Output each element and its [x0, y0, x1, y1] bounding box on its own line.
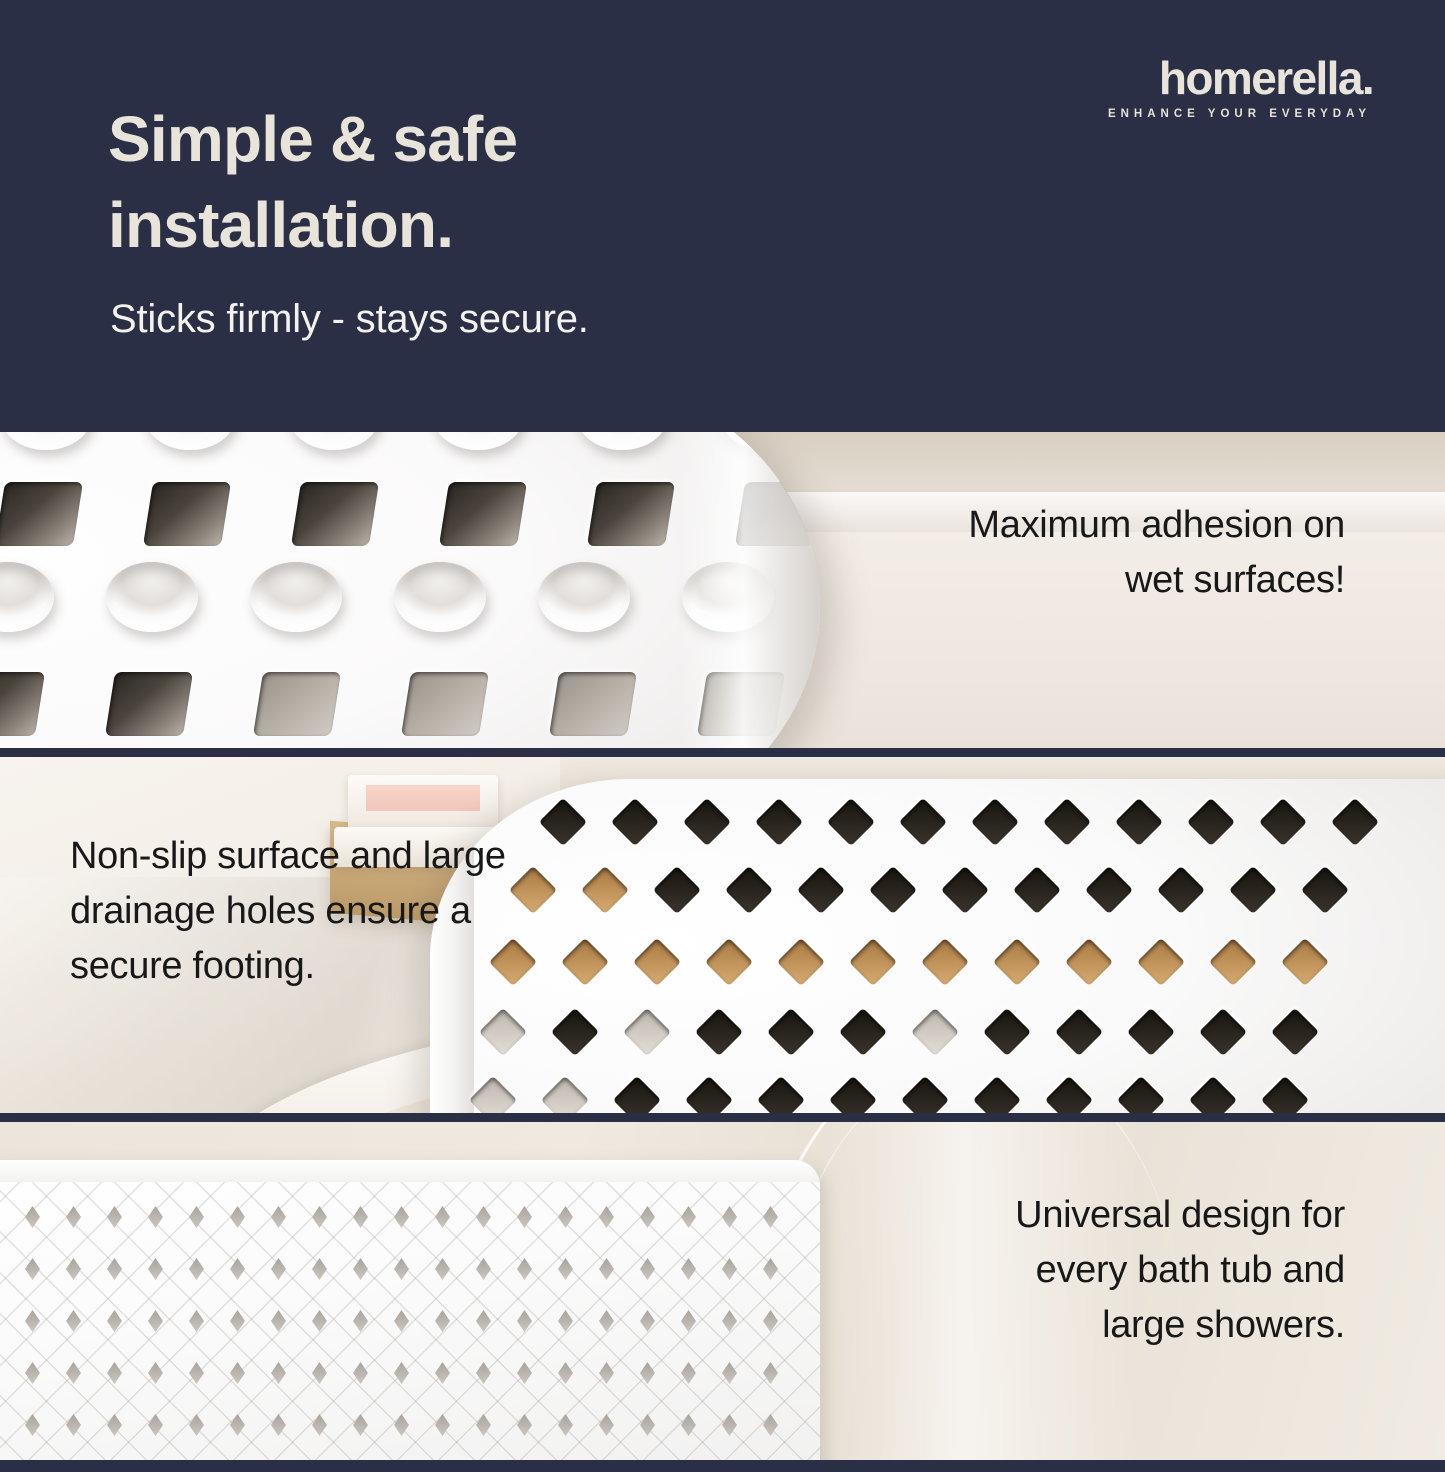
diamond-drainage-hole: [189, 1414, 204, 1436]
diamond-drainage-hole: [1259, 798, 1307, 846]
panel-divider-1: [0, 748, 1445, 757]
diamond-drainage-hole: [394, 1258, 409, 1280]
diamond-drainage-hole: [901, 1076, 949, 1113]
panel-1-caption-line-1: Maximum adhesion on: [785, 498, 1345, 553]
diamond-drainage-hole: [230, 1310, 245, 1332]
diamond-drainage-hole: [66, 1258, 81, 1280]
diamond-drainage-hole: [1045, 1076, 1093, 1113]
square-drainage-hole: [587, 482, 675, 546]
diamond-drainage-hole: [394, 1206, 409, 1228]
diamond-drainage-hole: [312, 1362, 327, 1384]
diamond-drainage-hole: [1229, 866, 1277, 914]
page-subheadline: Sticks firmly - stays secure.: [110, 295, 589, 343]
diamond-drainage-hole: [230, 1258, 245, 1280]
diamond-drainage-hole: [558, 1414, 573, 1436]
diamond-drainage-hole: [640, 1206, 655, 1228]
diamond-drainage-hole: [1043, 798, 1091, 846]
diamond-drainage-hole: [640, 1414, 655, 1436]
panel-3-caption-line-3: large showers.: [785, 1298, 1345, 1353]
diamond-drainage-hole: [394, 1310, 409, 1332]
diamond-drainage-hole: [973, 1076, 1021, 1113]
suction-cup-icon: [538, 562, 630, 632]
suction-cup-icon: [682, 562, 774, 632]
diamond-drainage-hole: [1085, 866, 1133, 914]
diamond-drainage-hole: [640, 1310, 655, 1332]
diamond-drainage-hole: [25, 1258, 40, 1280]
headline-line-2: installation.: [108, 183, 868, 269]
diamond-drainage-hole: [685, 1076, 733, 1113]
diamond-drainage-hole: [189, 1362, 204, 1384]
diamond-drainage-hole: [476, 1206, 491, 1228]
diamond-drainage-hole: [722, 1258, 737, 1280]
diamond-drainage-hole: [353, 1310, 368, 1332]
diamond-drainage-hole: [312, 1206, 327, 1228]
suction-cup-icon: [432, 432, 524, 450]
diamond-drainage-hole: [312, 1310, 327, 1332]
panel-1-caption: Maximum adhesion on wet surfaces!: [785, 498, 1345, 608]
panel-2-caption: Non-slip surface and large drainage hole…: [70, 829, 670, 994]
diamond-drainage-hole: [1301, 866, 1349, 914]
diamond-drainage-hole: [763, 1310, 778, 1332]
diamond-drainage-hole: [1137, 938, 1185, 986]
diamond-drainage-hole: [558, 1206, 573, 1228]
diamond-drainage-hole: [558, 1310, 573, 1332]
diamond-drainage-hole: [640, 1362, 655, 1384]
diamond-drainage-hole: [993, 938, 1041, 986]
brand-logo: homerella. ENHANCE YOUR EVERYDAY: [1108, 55, 1373, 121]
panel-2-caption-line-3: secure footing.: [70, 939, 670, 994]
diamond-drainage-hole: [869, 866, 917, 914]
diamond-drainage-hole: [394, 1362, 409, 1384]
diamond-drainage-hole: [1117, 1076, 1165, 1113]
diamond-drainage-hole: [829, 1076, 877, 1113]
diamond-drainage-hole: [725, 866, 773, 914]
suction-cup-icon: [720, 432, 812, 450]
diamond-drainage-hole: [107, 1206, 122, 1228]
diamond-drainage-hole: [353, 1414, 368, 1436]
diamond-drainage-hole: [1127, 1008, 1175, 1056]
diamond-drainage-hole: [517, 1258, 532, 1280]
diamond-drainage-hole: [189, 1310, 204, 1332]
diamond-drainage-hole: [476, 1414, 491, 1436]
diamond-hole-row: [0, 1258, 804, 1280]
infographic-sheet: Simple & safe installation. Sticks firml…: [0, 0, 1445, 1472]
header-banner: Simple & safe installation. Sticks firml…: [0, 0, 1445, 432]
panel-divider-2: [0, 1113, 1445, 1122]
diamond-drainage-hole: [1013, 866, 1061, 914]
diamond-drainage-hole: [1271, 1008, 1319, 1056]
diamond-drainage-hole: [107, 1362, 122, 1384]
diamond-drainage-hole: [1209, 938, 1257, 986]
diamond-drainage-hole: [613, 1076, 661, 1113]
diamond-drainage-hole: [1115, 798, 1163, 846]
diamond-hole-row: [0, 1206, 804, 1228]
diamond-drainage-hole: [271, 1206, 286, 1228]
diamond-drainage-hole: [722, 1206, 737, 1228]
square-drainage-hole: [105, 672, 193, 736]
diamond-drainage-hole: [1055, 1008, 1103, 1056]
diamond-drainage-hole: [1199, 1008, 1247, 1056]
diamond-drainage-hole: [1187, 798, 1235, 846]
diamond-drainage-hole: [25, 1362, 40, 1384]
diamond-drainage-hole: [66, 1206, 81, 1228]
suction-cup-row: [0, 562, 820, 632]
brand-logo-tagline: ENHANCE YOUR EVERYDAY: [1108, 109, 1373, 121]
diamond-drainage-hole: [551, 1008, 599, 1056]
suction-cup-icon: [394, 562, 486, 632]
square-drainage-hole: [439, 482, 527, 546]
diamond-drainage-hole: [353, 1258, 368, 1280]
diamond-drainage-hole: [941, 866, 989, 914]
diamond-drainage-hole: [148, 1258, 163, 1280]
bath-mat-flat-photo: [0, 1160, 820, 1460]
diamond-drainage-hole: [271, 1310, 286, 1332]
diamond-drainage-hole: [1157, 866, 1205, 914]
diamond-drainage-hole: [777, 938, 825, 986]
diamond-drainage-hole: [312, 1414, 327, 1436]
diamond-hole-row: [546, 805, 1410, 839]
diamond-drainage-hole: [435, 1310, 450, 1332]
diamond-drainage-hole: [107, 1310, 122, 1332]
diamond-drainage-hole: [705, 938, 753, 986]
suction-cup-icon: [0, 562, 54, 632]
diamond-drainage-hole: [66, 1414, 81, 1436]
diamond-drainage-hole: [983, 1008, 1031, 1056]
diamond-drainage-hole: [312, 1258, 327, 1280]
bottom-navy-strip: [0, 1460, 1445, 1472]
diamond-drainage-hole: [695, 1008, 743, 1056]
diamond-drainage-hole: [517, 1414, 532, 1436]
diamond-drainage-hole: [435, 1362, 450, 1384]
diamond-drainage-hole: [271, 1414, 286, 1436]
diamond-drainage-hole: [722, 1414, 737, 1436]
diamond-drainage-hole: [476, 1258, 491, 1280]
diamond-drainage-hole: [971, 798, 1019, 846]
drainage-hole-row: [0, 482, 820, 546]
diamond-drainage-hole: [763, 1206, 778, 1228]
diamond-hole-row: [0, 1310, 804, 1332]
suction-cup-icon: [106, 562, 198, 632]
diamond-drainage-hole: [839, 1008, 887, 1056]
mat-drainage-hole-grid: [0, 1182, 820, 1460]
bath-mat-underside-photo: [0, 432, 820, 748]
diamond-drainage-hole: [763, 1362, 778, 1384]
square-drainage-hole: [401, 672, 489, 736]
diamond-drainage-hole: [25, 1414, 40, 1436]
diamond-hole-row: [476, 1083, 1340, 1113]
page-headline: Simple & safe installation.: [108, 97, 868, 269]
headline-line-1: Simple & safe: [108, 103, 517, 175]
diamond-drainage-hole: [722, 1362, 737, 1384]
suction-cup-icon: [0, 432, 92, 450]
diamond-drainage-hole: [763, 1258, 778, 1280]
square-drainage-hole: [143, 482, 231, 546]
panel-3-caption: Universal design for every bath tub and …: [785, 1188, 1345, 1353]
diamond-drainage-hole: [757, 1076, 805, 1113]
diamond-drainage-hole: [230, 1362, 245, 1384]
diamond-drainage-hole: [1281, 938, 1329, 986]
diamond-drainage-hole: [599, 1414, 614, 1436]
diamond-drainage-hole: [25, 1206, 40, 1228]
diamond-drainage-hole: [827, 798, 875, 846]
diamond-drainage-hole: [517, 1310, 532, 1332]
diamond-drainage-hole: [849, 938, 897, 986]
panel-2-caption-line-1: Non-slip surface and large: [70, 829, 670, 884]
diamond-drainage-hole: [599, 1310, 614, 1332]
panel-1-caption-line-2: wet surfaces!: [785, 553, 1345, 608]
square-drainage-hole: [0, 672, 45, 736]
diamond-drainage-hole: [763, 1414, 778, 1436]
diamond-drainage-hole: [921, 938, 969, 986]
diamond-drainage-hole: [911, 1008, 959, 1056]
diamond-drainage-hole: [599, 1206, 614, 1228]
diamond-drainage-hole: [469, 1076, 517, 1113]
diamond-drainage-hole: [25, 1310, 40, 1332]
diamond-drainage-hole: [681, 1206, 696, 1228]
diamond-drainage-hole: [681, 1362, 696, 1384]
diamond-drainage-hole: [517, 1206, 532, 1228]
diamond-drainage-hole: [683, 798, 731, 846]
square-drainage-hole: [253, 672, 341, 736]
diamond-drainage-hole: [230, 1414, 245, 1436]
diamond-drainage-hole: [435, 1258, 450, 1280]
diamond-drainage-hole: [1189, 1076, 1237, 1113]
brand-logo-wordmark: homerella.: [1108, 55, 1373, 101]
diamond-drainage-hole: [899, 798, 947, 846]
diamond-drainage-hole: [353, 1206, 368, 1228]
diamond-drainage-hole: [230, 1206, 245, 1228]
soap-bar-top: [348, 775, 498, 831]
square-drainage-hole: [549, 672, 637, 736]
diamond-drainage-hole: [148, 1310, 163, 1332]
diamond-drainage-hole: [435, 1206, 450, 1228]
diamond-drainage-hole: [148, 1362, 163, 1384]
diamond-drainage-hole: [767, 1008, 815, 1056]
panel-3-caption-line-1: Universal design for: [785, 1188, 1345, 1243]
diamond-drainage-hole: [623, 1008, 671, 1056]
diamond-drainage-hole: [541, 1076, 589, 1113]
feature-panel-adhesion: Maximum adhesion on wet surfaces!: [0, 432, 1445, 748]
diamond-drainage-hole: [681, 1310, 696, 1332]
diamond-drainage-hole: [476, 1310, 491, 1332]
drainage-hole-row: [0, 672, 820, 736]
square-drainage-hole: [0, 482, 83, 546]
mat-border-rim: [0, 1160, 820, 1182]
suction-cup-icon: [288, 432, 380, 450]
feature-panel-nonslip: Non-slip surface and large drainage hole…: [0, 757, 1445, 1113]
diamond-drainage-hole: [271, 1258, 286, 1280]
diamond-drainage-hole: [66, 1310, 81, 1332]
diamond-drainage-hole: [479, 1008, 527, 1056]
suction-cup-icon: [250, 562, 342, 632]
square-drainage-hole: [697, 672, 785, 736]
panel-3-caption-line-2: every bath tub and: [785, 1243, 1345, 1298]
diamond-drainage-hole: [797, 866, 845, 914]
diamond-drainage-hole: [640, 1258, 655, 1280]
diamond-drainage-hole: [148, 1206, 163, 1228]
diamond-drainage-hole: [394, 1414, 409, 1436]
diamond-hole-row: [0, 1362, 804, 1384]
diamond-drainage-hole: [1331, 798, 1379, 846]
suction-cup-row: [0, 432, 820, 450]
square-drainage-hole: [291, 482, 379, 546]
diamond-drainage-hole: [353, 1362, 368, 1384]
diamond-drainage-hole: [476, 1362, 491, 1384]
diamond-hole-row: [0, 1414, 804, 1436]
diamond-drainage-hole: [271, 1362, 286, 1384]
diamond-drainage-hole: [148, 1414, 163, 1436]
diamond-drainage-hole: [1065, 938, 1113, 986]
diamond-drainage-hole: [599, 1258, 614, 1280]
diamond-drainage-hole: [722, 1310, 737, 1332]
diamond-drainage-hole: [681, 1258, 696, 1280]
diamond-drainage-hole: [189, 1206, 204, 1228]
panel-2-caption-line-2: drainage holes ensure a: [70, 884, 670, 939]
diamond-drainage-hole: [1261, 1076, 1309, 1113]
diamond-drainage-hole: [189, 1258, 204, 1280]
suction-cup-icon: [576, 432, 668, 450]
diamond-drainage-hole: [755, 798, 803, 846]
suction-cup-icon: [144, 432, 236, 450]
diamond-drainage-hole: [66, 1362, 81, 1384]
diamond-hole-row: [486, 1015, 1350, 1049]
feature-panel-universal: Universal design for every bath tub and …: [0, 1122, 1445, 1460]
diamond-drainage-hole: [107, 1258, 122, 1280]
diamond-drainage-hole: [599, 1362, 614, 1384]
diamond-drainage-hole: [558, 1258, 573, 1280]
diamond-drainage-hole: [107, 1414, 122, 1436]
diamond-drainage-hole: [681, 1414, 696, 1436]
diamond-drainage-hole: [517, 1362, 532, 1384]
diamond-drainage-hole: [435, 1414, 450, 1436]
diamond-drainage-hole: [558, 1362, 573, 1384]
